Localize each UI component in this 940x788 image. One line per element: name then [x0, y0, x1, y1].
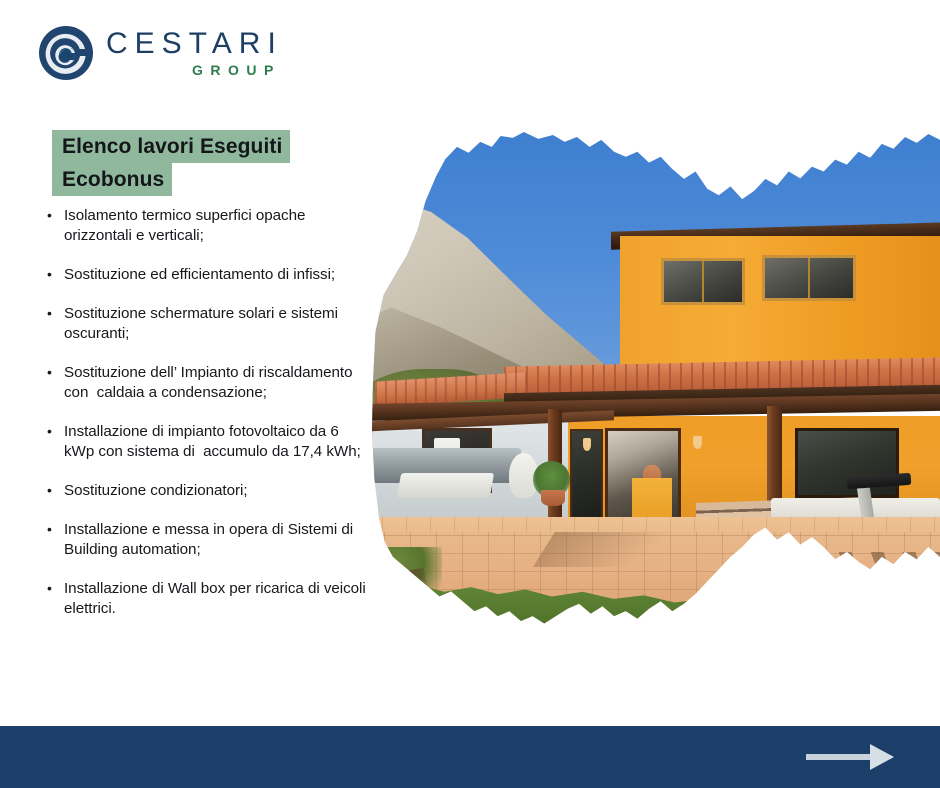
villa-photo [358, 132, 940, 626]
arrow-head [870, 744, 894, 770]
list-item: Sostituzione schermature solari e sistem… [40, 304, 370, 344]
spiral-swirl-icon [38, 25, 94, 81]
photo-bonsai-trunk [378, 567, 432, 615]
photo-bonsai-shrub [361, 547, 442, 611]
photo-palm-shadow [800, 552, 940, 621]
list-item: Isolamento termico superfici opache oriz… [40, 206, 370, 246]
photo-upper-window-left [661, 258, 745, 305]
page-title-line-2: Ecobonus [52, 163, 172, 196]
page-title: Elenco lavori Eseguiti Ecobonus [52, 130, 382, 196]
works-list: Isolamento termico superfici opache oriz… [40, 206, 370, 638]
arrow-right-icon[interactable] [806, 744, 894, 770]
list-item: Installazione e messa in opera di Sistem… [40, 520, 370, 560]
photo-terracotta-pot [541, 490, 564, 506]
brand-name: CESTARI [106, 29, 283, 59]
arrow-shaft [806, 754, 872, 760]
list-item: Sostituzione condizionatori; [40, 481, 370, 501]
brand-logo: CESTARI GROUP [38, 22, 288, 84]
brand-tagline: GROUP [192, 63, 281, 77]
page-title-line-1: Elenco lavori Eseguiti [52, 130, 290, 163]
villa-photo-torn-frame [358, 132, 940, 626]
photo-post-shadow [533, 532, 683, 567]
photo-sun-lounger [397, 473, 494, 498]
footer-bar [0, 726, 940, 788]
photo-window-mullion [808, 258, 810, 299]
brand-wordmark: CESTARI GROUP [106, 29, 283, 77]
photo-upper-window-right [762, 255, 855, 302]
list-item: Sostituzione dell’ Impianto di riscaldam… [40, 363, 370, 403]
photo-window-mullion [702, 261, 704, 302]
photo-wall-lamp-right [693, 436, 702, 449]
list-item: Sostituzione ed efficientamento di infis… [40, 265, 370, 285]
list-item: Installazione di Wall box per ricarica d… [40, 579, 370, 619]
list-item: Installazione di impianto fotovoltaico d… [40, 422, 370, 462]
